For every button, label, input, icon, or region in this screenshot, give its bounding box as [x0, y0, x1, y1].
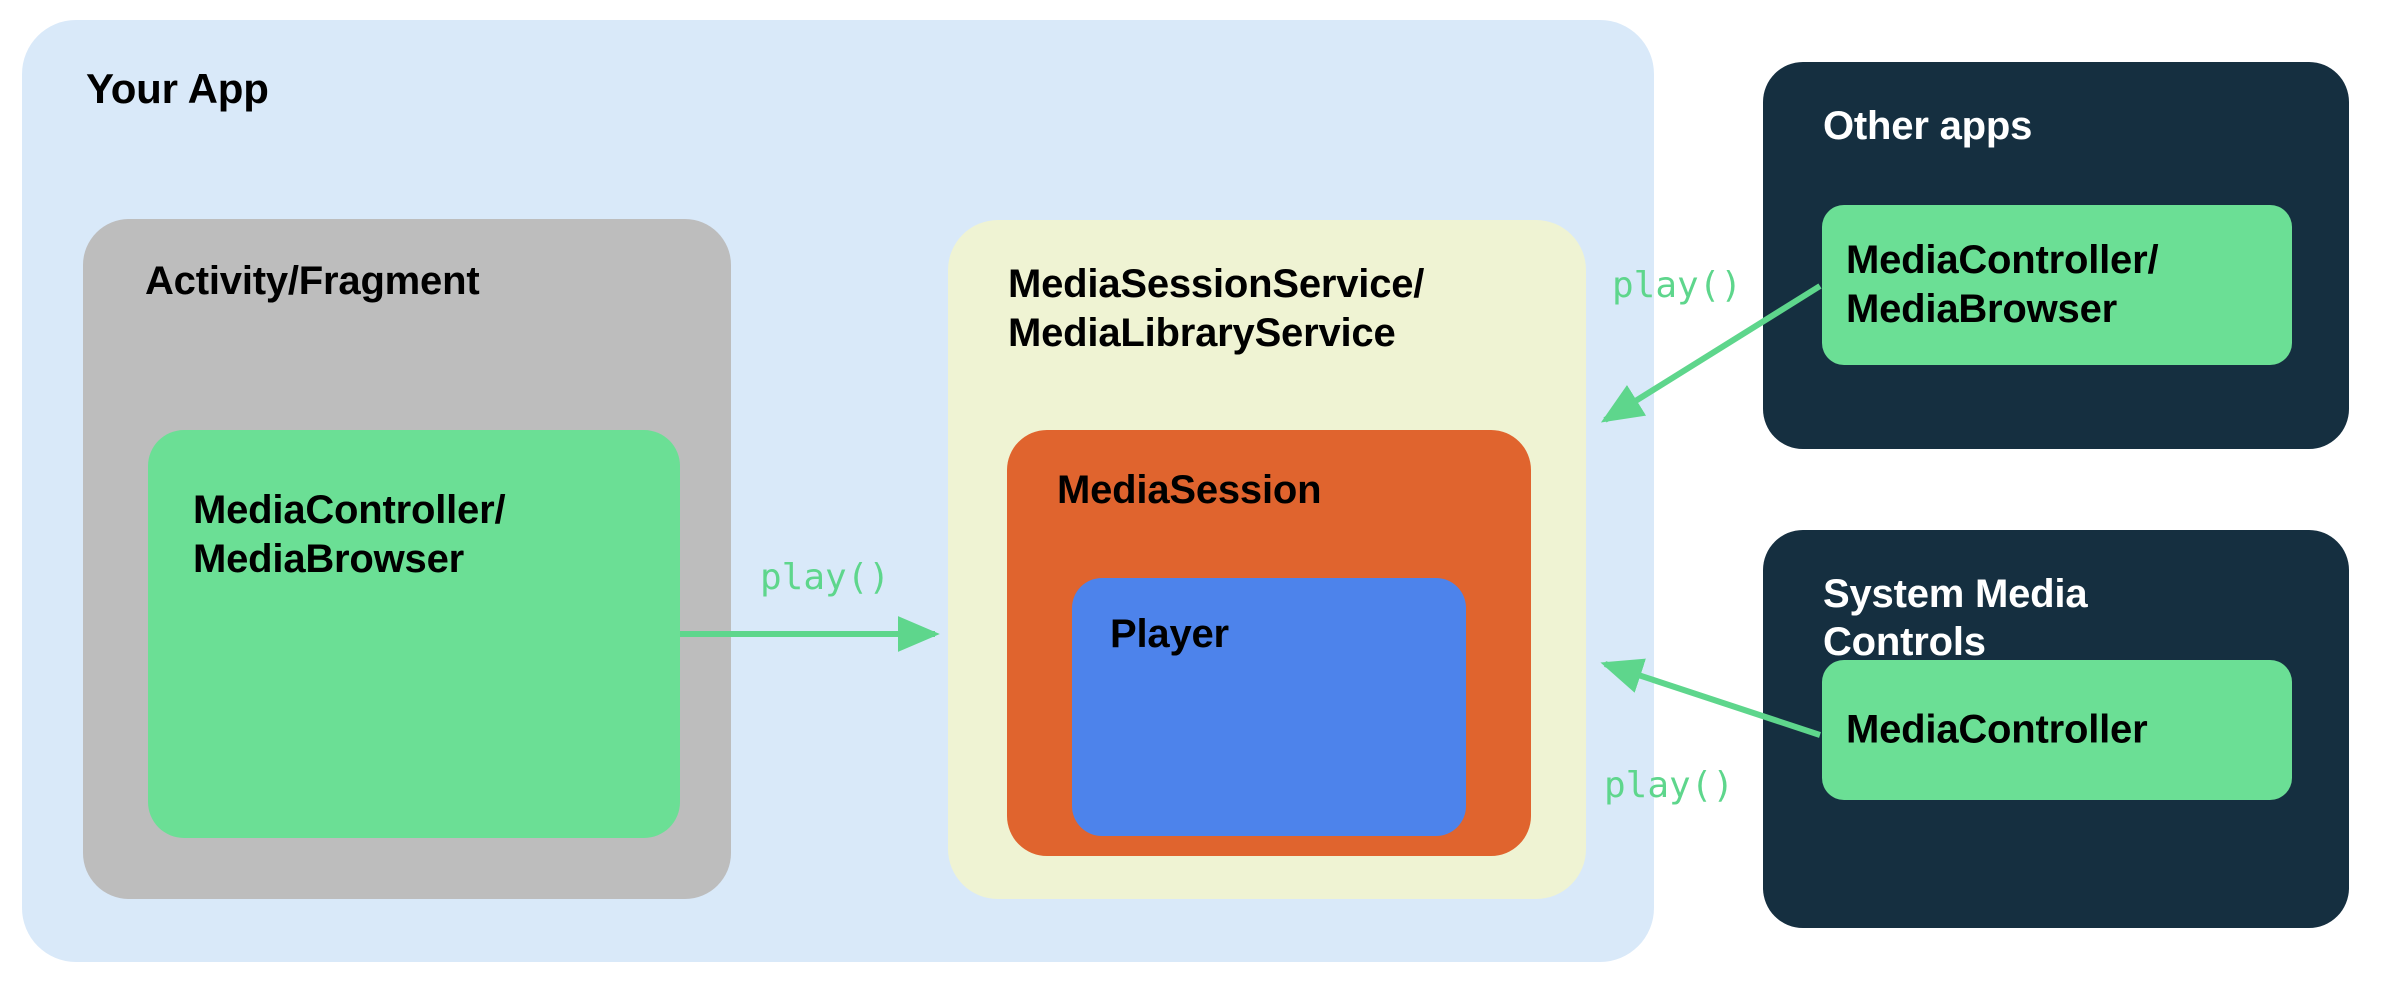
system-media-controller-label: MediaController [1846, 706, 2147, 755]
media-session-title: MediaSession [1057, 468, 1321, 513]
activity-fragment-title: Activity/Fragment [145, 259, 479, 304]
system-media-controls-panel: System Media Controls MediaController [1763, 530, 2349, 928]
play-label-app-controller: play() [760, 557, 890, 598]
system-media-controls-title: System Media Controls [1823, 570, 2087, 666]
other-apps-panel: Other apps MediaController/ MediaBrowser [1763, 62, 2349, 449]
system-media-controller-box: MediaController [1822, 660, 2292, 800]
other-apps-media-controller-label: MediaController/ MediaBrowser [1846, 236, 2158, 334]
play-label-other-apps: play() [1612, 265, 1742, 306]
app-media-controller-box: MediaController/ MediaBrowser [148, 430, 680, 838]
your-app-title: Your App [86, 65, 269, 113]
play-label-system-controls: play() [1604, 765, 1734, 806]
media-session-service-title: MediaSessionService/ MediaLibraryService [1008, 260, 1424, 358]
player-title: Player [1110, 612, 1229, 657]
player-box: Player [1072, 578, 1466, 836]
other-apps-media-controller-box: MediaController/ MediaBrowser [1822, 205, 2292, 365]
app-media-controller-label: MediaController/ MediaBrowser [193, 486, 505, 584]
other-apps-title: Other apps [1823, 102, 2032, 150]
diagram-canvas: Your App Activity/Fragment MediaControll… [0, 0, 2384, 990]
